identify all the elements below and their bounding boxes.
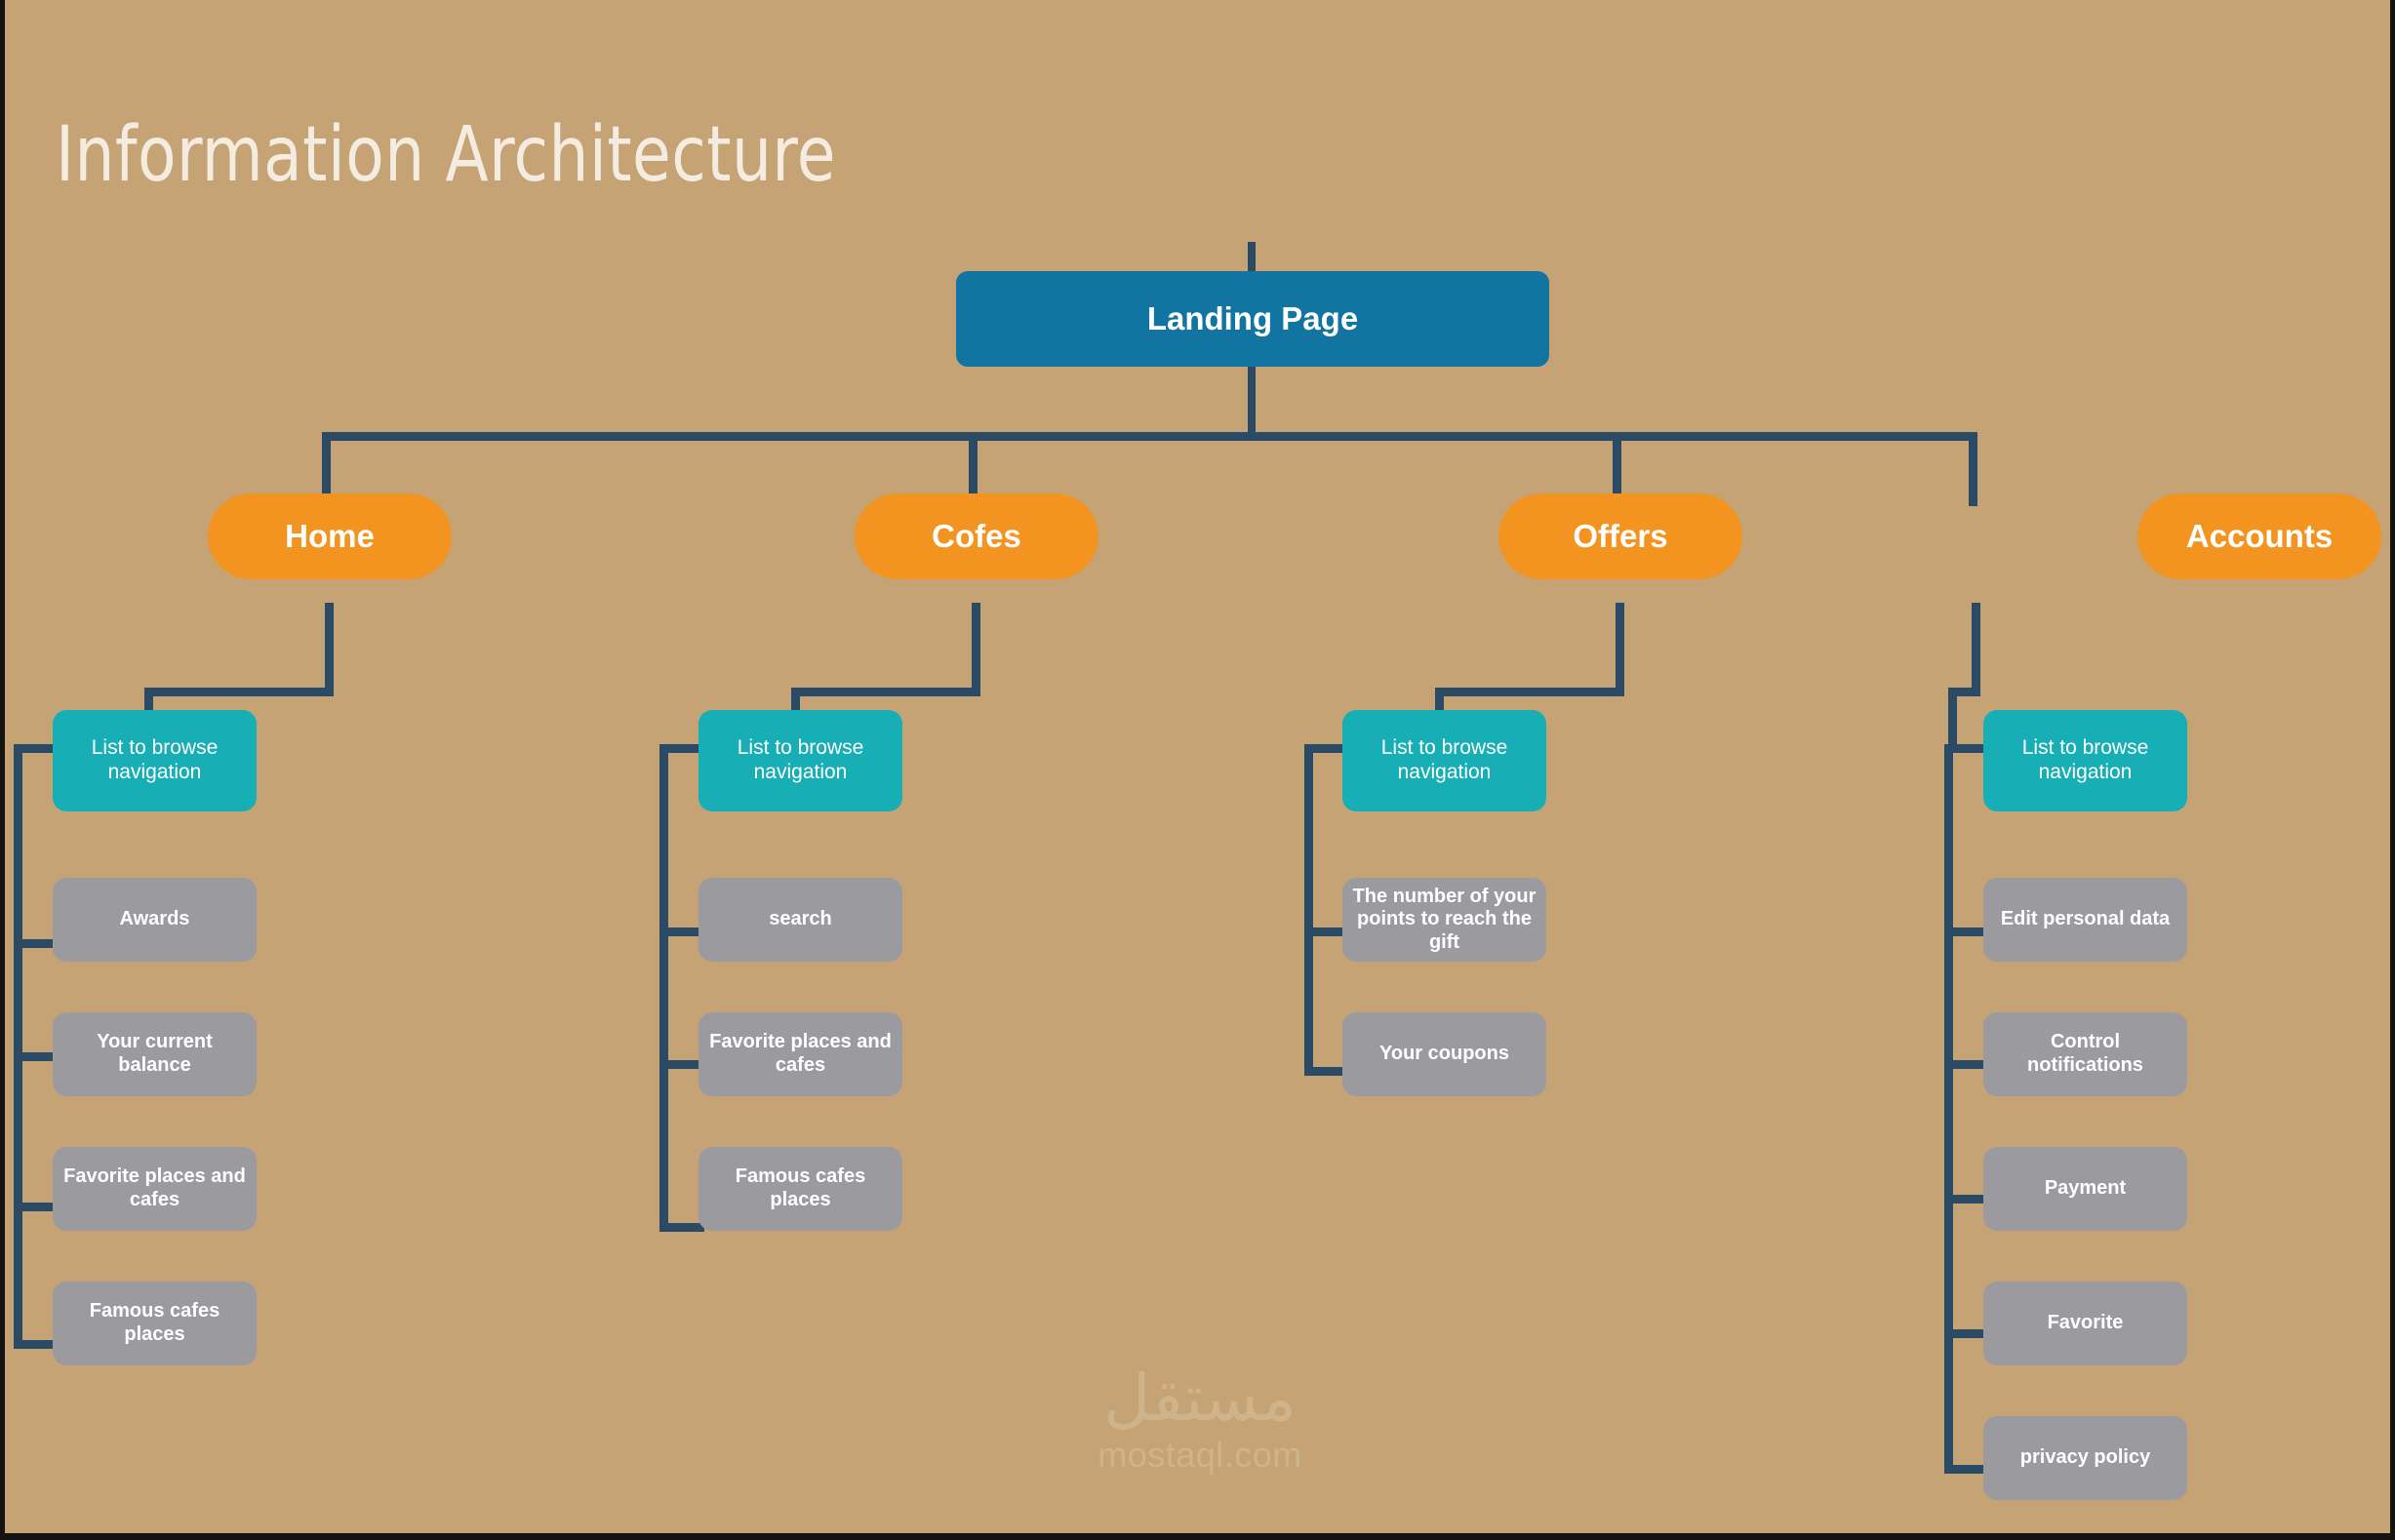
node-cofes-leaf-0[interactable]: search bbox=[699, 878, 902, 962]
node-cofes-leaf-1[interactable]: Favorite places and cafes bbox=[699, 1012, 902, 1096]
node-accounts-leaf-0[interactable]: Edit personal data bbox=[1983, 878, 2187, 962]
node-home[interactable]: Home bbox=[208, 494, 452, 579]
node-home-leaf-1[interactable]: Your current balance bbox=[53, 1012, 257, 1096]
connector-offers-elbow bbox=[1435, 688, 1624, 696]
watermark-latin: mostaql.com bbox=[1054, 1434, 1346, 1476]
connector-accounts-stem bbox=[1972, 603, 1980, 696]
node-cofes-leaf-2[interactable]: Famous cafes places bbox=[699, 1147, 902, 1231]
node-cofes[interactable]: Cofes bbox=[855, 494, 1098, 579]
trunk-cofes bbox=[659, 744, 668, 1232]
connector-cofes-elbow bbox=[791, 688, 980, 696]
diagram-canvas: Information Architecture bbox=[0, 0, 2395, 1540]
node-home-leaf-0[interactable]: Awards bbox=[53, 878, 257, 962]
node-accounts-leaf-2[interactable]: Payment bbox=[1983, 1147, 2187, 1231]
watermark: مستقل mostaql.com bbox=[1054, 1365, 1346, 1476]
connector-root-bus bbox=[322, 432, 1977, 441]
node-offers[interactable]: Offers bbox=[1498, 494, 1742, 579]
node-offers-leaf-1[interactable]: Your coupons bbox=[1342, 1012, 1546, 1096]
trunk-accounts bbox=[1944, 744, 1953, 1474]
node-cofes-list[interactable]: List to browse navigation bbox=[699, 710, 902, 811]
connector-home-elbow bbox=[144, 688, 334, 696]
trunk-offers bbox=[1304, 744, 1313, 1076]
connector-cofes-stem bbox=[972, 603, 980, 696]
tick-cofes-2 bbox=[659, 1223, 704, 1232]
connector-offers-stem bbox=[1616, 603, 1624, 696]
node-offers-leaf-0[interactable]: The number of your points to reach the g… bbox=[1342, 878, 1546, 962]
node-accounts-leaf-1[interactable]: Control notifications bbox=[1983, 1012, 2187, 1096]
watermark-arabic: مستقل bbox=[1054, 1365, 1346, 1430]
page-title: Information Architecture bbox=[56, 111, 836, 199]
node-offers-list[interactable]: List to browse navigation bbox=[1342, 710, 1546, 811]
node-home-leaf-3[interactable]: Famous cafes places bbox=[53, 1282, 257, 1365]
connector-accounts-elbow-bottom bbox=[1948, 688, 1957, 748]
node-home-list[interactable]: List to browse navigation bbox=[53, 710, 257, 811]
connector-drop-accounts bbox=[1969, 432, 1977, 506]
node-home-leaf-2[interactable]: Favorite places and cafes bbox=[53, 1147, 257, 1231]
trunk-home bbox=[14, 744, 22, 1349]
node-accounts[interactable]: Accounts bbox=[2137, 494, 2381, 579]
node-accounts-leaf-4[interactable]: privacy policy bbox=[1983, 1416, 2187, 1500]
node-accounts-list[interactable]: List to browse navigation bbox=[1983, 710, 2187, 811]
node-landing-page[interactable]: Landing Page bbox=[956, 271, 1549, 367]
connector-home-stem bbox=[325, 603, 334, 696]
node-accounts-leaf-3[interactable]: Favorite bbox=[1983, 1282, 2187, 1365]
